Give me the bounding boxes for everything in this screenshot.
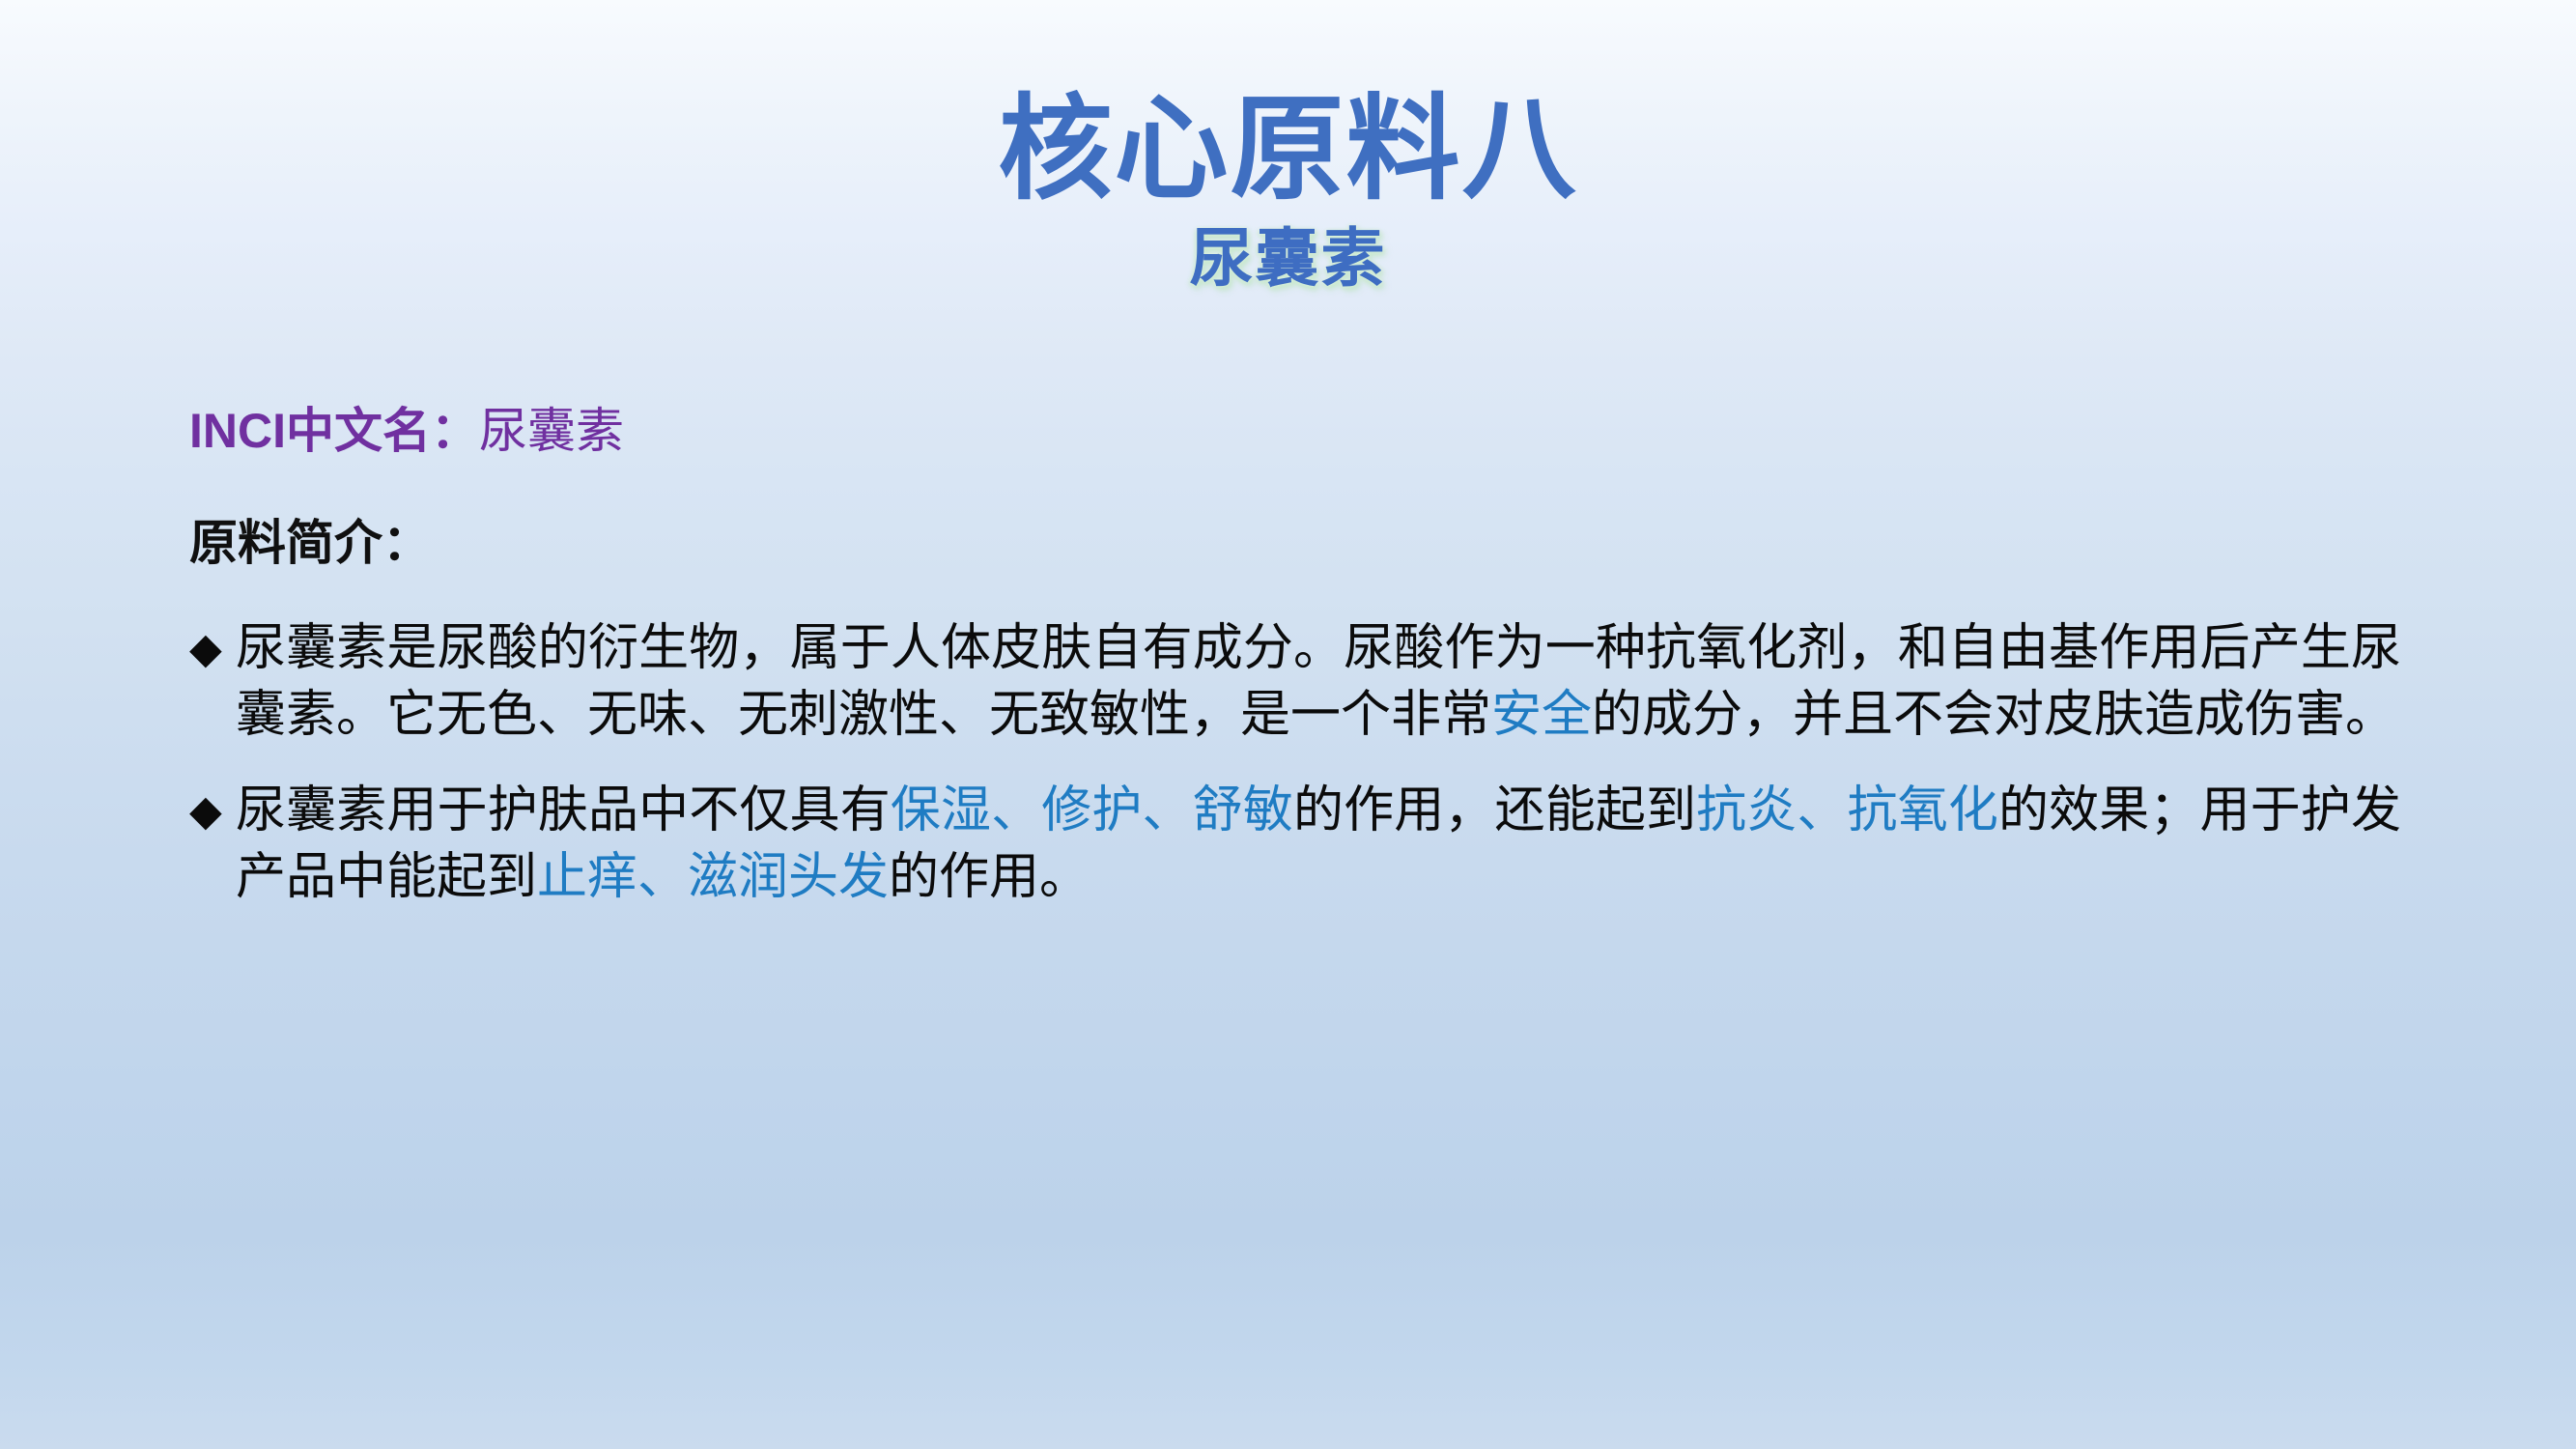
body-text-run: 的作用，还能起到 [1293, 782, 1696, 838]
title-block: 核心原料八 尿囊素 [0, 93, 2576, 290]
bullet-list: ◆尿囊素是尿酸的衍生物，属于人体皮肤自有成分。尿酸作为一种抗氧化剂，和自由基作用… [189, 615, 2401, 912]
bullet-paragraph: ◆尿囊素是尿酸的衍生物，属于人体皮肤自有成分。尿酸作为一种抗氧化剂，和自由基作用… [189, 615, 2401, 749]
inci-name-line: INCI中文名：尿囊素 [189, 404, 2401, 460]
highlighted-term: 抗炎、抗氧化 [1696, 782, 1998, 838]
highlighted-term: 止痒、滋润头发 [537, 849, 889, 905]
bullet-paragraph: ◆尿囊素用于护肤品中不仅具有保湿、修护、舒敏的作用，还能起到抗炎、抗氧化的效果；… [189, 778, 2401, 911]
section-heading-intro: 原料简介： [189, 516, 2401, 572]
highlighted-term: 安全 [1491, 687, 1592, 743]
slide-body: INCI中文名：尿囊素 原料简介： ◆尿囊素是尿酸的衍生物，属于人体皮肤自有成分… [189, 404, 2401, 912]
body-text-run: 的成分，并且不会对皮肤造成伤害。 [1592, 687, 2395, 743]
body-text-run: 尿囊素用于护肤品中不仅具有 [236, 782, 891, 838]
body-text-run: 的作用。 [889, 849, 1090, 905]
inci-value: 尿囊素 [479, 404, 624, 458]
highlighted-term: 保湿、修护、舒敏 [891, 782, 1293, 838]
page-subtitle: 尿囊素 [0, 226, 2576, 290]
inci-label: INCI中文名： [189, 404, 479, 458]
diamond-bullet-icon: ◆ [189, 615, 222, 683]
slide-canvas: 核心原料八 尿囊素 INCI中文名：尿囊素 原料简介： ◆尿囊素是尿酸的衍生物，… [0, 0, 2576, 1449]
diamond-bullet-icon: ◆ [189, 778, 222, 845]
page-title: 核心原料八 [0, 93, 2576, 207]
